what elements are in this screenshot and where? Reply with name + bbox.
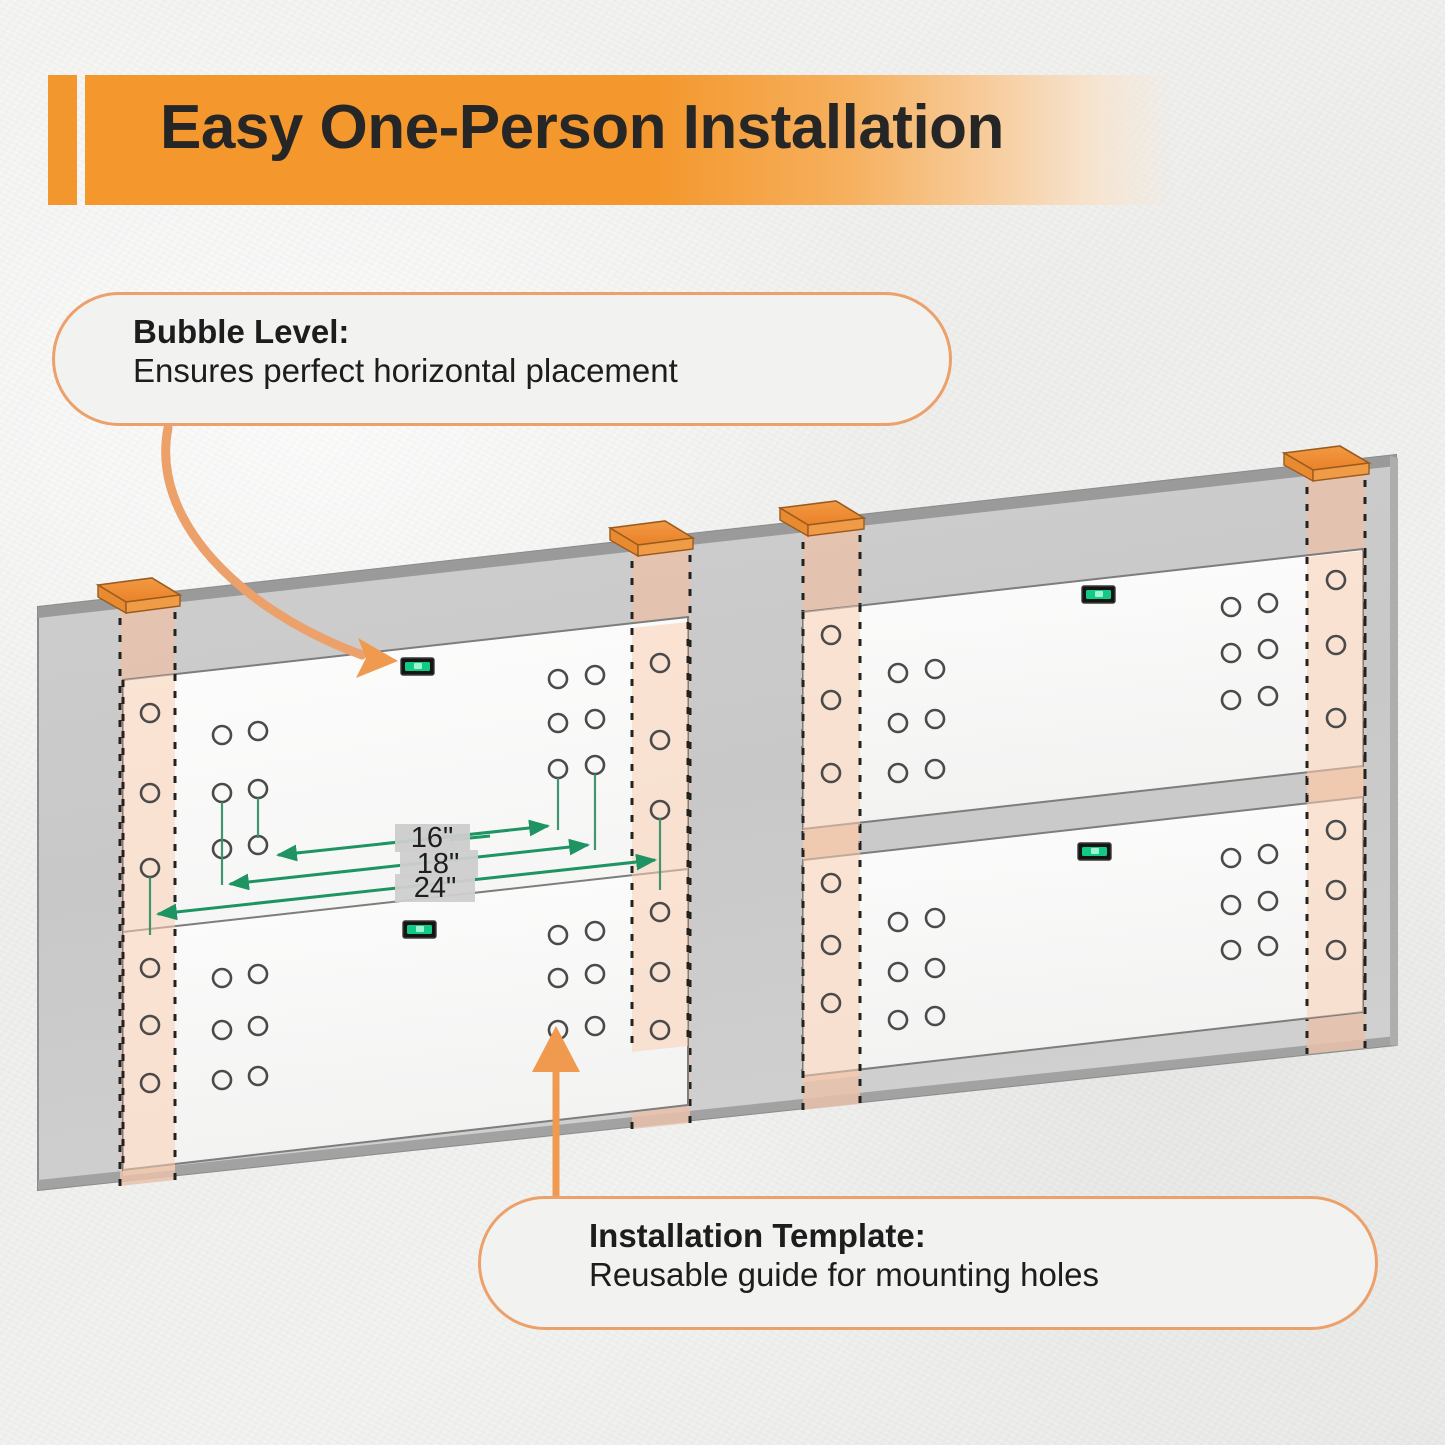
bubble-level-icon-2 bbox=[1082, 586, 1115, 603]
callout-installation-template-title: Installation Template: bbox=[589, 1217, 1099, 1255]
page-title: Easy One-Person Installation bbox=[160, 92, 1004, 163]
bubble-level-icon-1 bbox=[401, 658, 434, 675]
callout-installation-template-subtitle: Reusable guide for mounting holes bbox=[589, 1255, 1099, 1295]
dimension-label-24: 24" bbox=[414, 872, 457, 904]
bubble-level-icon-3 bbox=[1078, 843, 1111, 860]
callout-bubble-level: Bubble Level: Ensures perfect horizontal… bbox=[52, 292, 952, 426]
callout-bubble-level-body: Bubble Level: Ensures perfect horizontal… bbox=[133, 313, 678, 391]
callout-bubble-level-subtitle: Ensures perfect horizontal placement bbox=[133, 351, 678, 391]
callout-installation-template-body: Installation Template: Reusable guide fo… bbox=[589, 1217, 1099, 1295]
header: Easy One-Person Installation bbox=[0, 0, 1445, 230]
header-accent-bar bbox=[48, 75, 77, 205]
callout-installation-template: Installation Template: Reusable guide fo… bbox=[478, 1196, 1378, 1330]
bubble-level-icon-4 bbox=[403, 921, 436, 938]
callout-bubble-level-title: Bubble Level: bbox=[133, 313, 678, 351]
